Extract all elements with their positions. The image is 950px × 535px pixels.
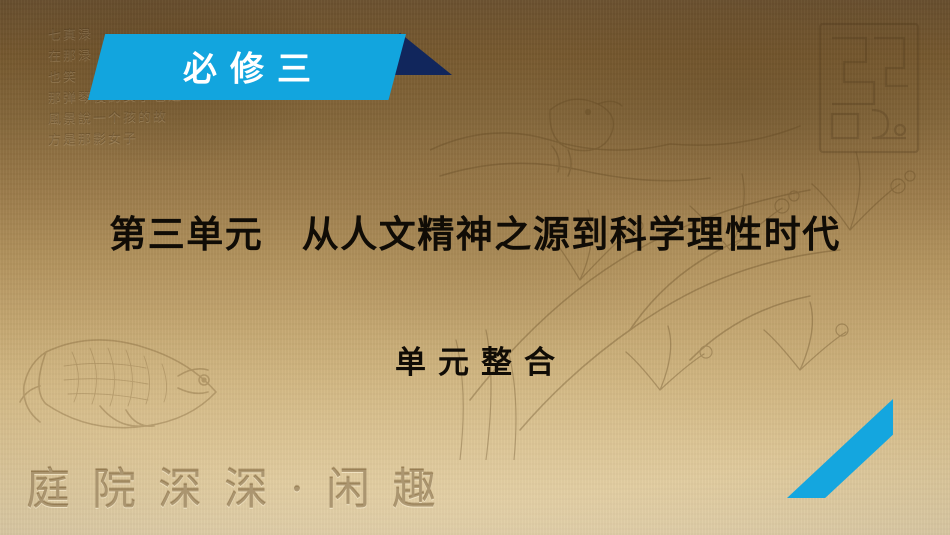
course-banner: 必修三 (88, 34, 406, 100)
background-seal-script-text: 庭院深深·闲趣 (26, 453, 458, 517)
slide-canvas: 七真渌 在那渌 也笑 那弹琴後的女子也是 風景說一个孩的故 方是那影女子 (0, 0, 950, 535)
page-title: 第三单元 从人文精神之源到科学理性时代 (0, 204, 950, 258)
page-subtitle: 单元整合 (0, 337, 950, 382)
course-banner-label: 必修三 (88, 42, 406, 91)
